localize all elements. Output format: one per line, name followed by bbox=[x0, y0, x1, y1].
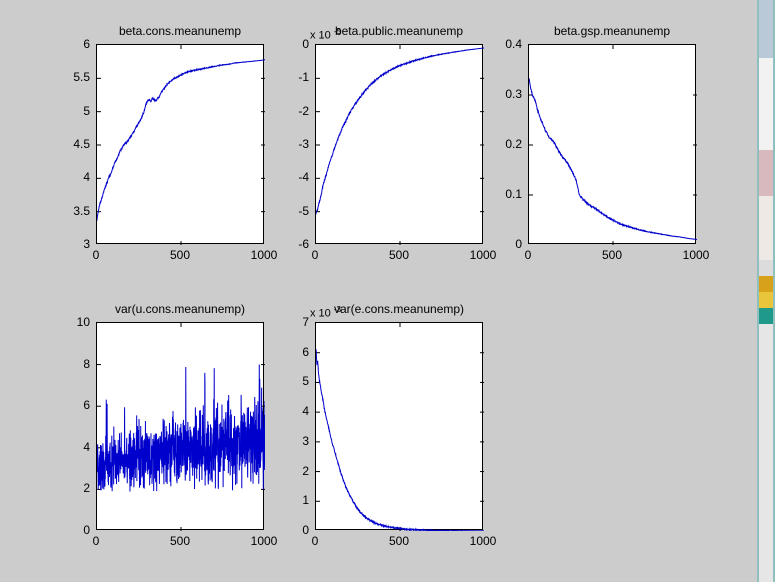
y-tick-label: 4.5 bbox=[36, 138, 90, 150]
plot-canvas-beta-cons-meanunemp bbox=[97, 45, 265, 245]
plot-beta-gsp-meanunemp: beta.gsp.meanunemp00.10.20.30.405001000 bbox=[468, 18, 696, 270]
y-tick-label: 5 bbox=[255, 375, 309, 387]
y-tick-label: -3 bbox=[255, 138, 309, 150]
plot-var-e-cons-meanunemp: var(e.cons.meanunemp)x 10 -3012345670500… bbox=[255, 296, 483, 556]
axes-beta-gsp-meanunemp bbox=[528, 44, 696, 244]
y-tick-label: 5 bbox=[36, 105, 90, 117]
plot-canvas-var-u-cons-meanunemp bbox=[97, 323, 265, 531]
y-tick-label: 5.5 bbox=[36, 71, 90, 83]
x-tick-label: 500 bbox=[150, 249, 210, 261]
y-tick-label: 1 bbox=[255, 494, 309, 506]
plot-title-beta-gsp-meanunemp: beta.gsp.meanunemp bbox=[528, 24, 696, 38]
x-tick-label: 0 bbox=[285, 249, 345, 261]
y-tick-label: 6 bbox=[255, 346, 309, 358]
y-tick-label: 0 bbox=[255, 38, 309, 50]
x-tick-label: 0 bbox=[66, 535, 126, 547]
y-tick-label: -1 bbox=[255, 71, 309, 83]
background-window-sliver[interactable] bbox=[757, 0, 775, 582]
axis-exponent-label-beta-public-meanunemp: x 10 -5 bbox=[310, 26, 341, 42]
y-tick-label: 7 bbox=[255, 316, 309, 328]
plot-title-var-u-cons-meanunemp: var(u.cons.meanunemp) bbox=[96, 302, 264, 316]
axes-beta-cons-meanunemp bbox=[96, 44, 264, 244]
y-tick-label: 6 bbox=[36, 38, 90, 50]
plot-var-u-cons-meanunemp: var(u.cons.meanunemp)024681005001000 bbox=[36, 296, 264, 556]
x-tick-label: 0 bbox=[66, 249, 126, 261]
plot-canvas-beta-gsp-meanunemp bbox=[529, 45, 697, 245]
trace-line-beta-cons-meanunemp bbox=[97, 60, 265, 221]
x-tick-label: 500 bbox=[369, 535, 429, 547]
sliver-edge-left bbox=[757, 0, 759, 582]
trace-line-var-e-cons-meanunemp bbox=[316, 349, 484, 531]
plot-canvas-beta-public-meanunemp bbox=[316, 45, 484, 245]
y-tick-label: -5 bbox=[255, 205, 309, 217]
trace-line-var-u-cons-meanunemp bbox=[97, 364, 265, 491]
y-tick-label: 6 bbox=[36, 399, 90, 411]
x-tick-label: 500 bbox=[369, 249, 429, 261]
x-tick-label: 0 bbox=[285, 535, 345, 547]
y-tick-label: -2 bbox=[255, 105, 309, 117]
axes-var-e-cons-meanunemp bbox=[315, 322, 483, 530]
y-tick-label: 0.2 bbox=[468, 138, 522, 150]
x-tick-label: 500 bbox=[150, 535, 210, 547]
y-tick-label: 8 bbox=[36, 358, 90, 370]
y-tick-label: 3.5 bbox=[36, 205, 90, 217]
y-tick-label: -4 bbox=[255, 171, 309, 183]
axes-var-u-cons-meanunemp bbox=[96, 322, 264, 530]
y-tick-label: 2 bbox=[36, 482, 90, 494]
x-tick-label: 0 bbox=[498, 249, 558, 261]
figure-canvas: beta.cons.meanunemp33.544.555.5605001000… bbox=[0, 0, 757, 582]
trace-line-beta-public-meanunemp bbox=[316, 48, 484, 214]
y-tick-label: 0.1 bbox=[468, 188, 522, 200]
matlab-figure-window: beta.cons.meanunemp33.544.555.5605001000… bbox=[0, 0, 775, 582]
y-tick-label: 4 bbox=[36, 171, 90, 183]
y-tick-label: 0.4 bbox=[468, 38, 522, 50]
y-tick-label: 4 bbox=[255, 405, 309, 417]
axis-exponent-label-var-e-cons-meanunemp: x 10 -3 bbox=[310, 304, 341, 320]
x-tick-label: 500 bbox=[582, 249, 642, 261]
plot-beta-cons-meanunemp: beta.cons.meanunemp33.544.555.5605001000 bbox=[36, 18, 264, 270]
y-tick-label: 0.3 bbox=[468, 88, 522, 100]
x-tick-label: 1000 bbox=[453, 535, 513, 547]
x-tick-label: 1000 bbox=[666, 249, 726, 261]
plot-beta-public-meanunemp: beta.public.meanunempx 10 -5-6-5-4-3-2-1… bbox=[255, 18, 483, 270]
y-tick-label: 2 bbox=[255, 465, 309, 477]
y-tick-label: 3 bbox=[255, 435, 309, 447]
y-tick-label: 10 bbox=[36, 316, 90, 328]
trace-line-beta-gsp-meanunemp bbox=[529, 79, 697, 240]
plot-title-beta-cons-meanunemp: beta.cons.meanunemp bbox=[96, 24, 264, 38]
y-tick-label: 4 bbox=[36, 441, 90, 453]
axes-beta-public-meanunemp bbox=[315, 44, 483, 244]
plot-canvas-var-e-cons-meanunemp bbox=[316, 323, 484, 531]
